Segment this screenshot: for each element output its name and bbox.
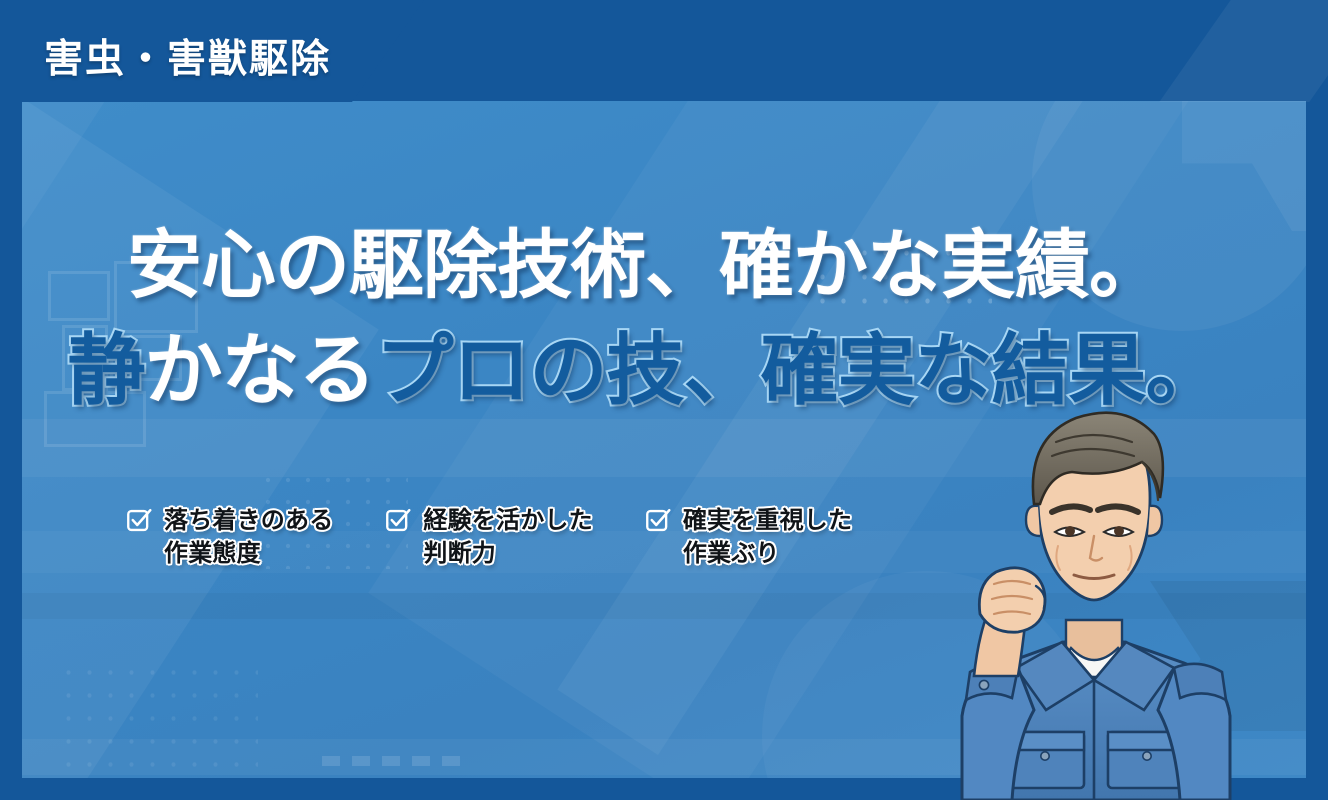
corner-accent-decor [1159,0,1328,102]
feature-item-3: 確実を重視した 作業ぶり [645,504,852,570]
headline-secondary-segment-1: 静 [67,326,144,414]
checkbox-checked-icon [645,507,672,534]
feature-item-3-text: 確実を重視した 作業ぶり [683,504,852,570]
diagonal-stripe-decor-2 [22,101,208,778]
checkbox-checked-icon [126,507,153,534]
category-tab-label: 害虫・害獣駆除 [44,28,331,84]
feature-item-1-line2: 作業態度 [164,537,333,570]
dashed-line-decor [322,756,472,766]
hero-banner: 害虫・害獣駆除 安心の駆除技術、確かな実績。 静かなるプロの技、確実な結果。 落… [0,0,1328,800]
dot-grid-decor-bottom-left [58,661,258,771]
headline-secondary-segment-2: かなる [144,326,375,414]
feature-item-3-line1: 確実を重視した [683,507,852,534]
feature-item-1: 落ち着きのある 作業態度 [126,504,333,570]
checkbox-checked-icon [385,507,412,534]
headline-primary: 安心の駆除技術、確かな実績。 [0,228,1290,303]
feature-list: 落ち着きのある 作業態度 経験を活かした 判断力 [126,504,852,570]
feature-item-2-line1: 経験を活かした [423,507,592,534]
chevron-decor-top-right [1182,101,1306,231]
category-tab: 害虫・害獣駆除 [0,0,424,102]
male-pest-control-worker-illustration [866,380,1316,800]
feature-item-3-line2: 作業ぶり [683,537,852,570]
diagonal-stripe-decor-1 [22,101,379,778]
feature-item-2: 経験を活かした 判断力 [385,504,592,570]
feature-item-1-text: 落ち着きのある 作業態度 [164,504,333,570]
feature-item-2-line2: 判断力 [423,537,592,570]
feature-item-2-text: 経験を活かした 判断力 [423,504,592,570]
feature-item-1-line1: 落ち着きのある [164,507,333,534]
